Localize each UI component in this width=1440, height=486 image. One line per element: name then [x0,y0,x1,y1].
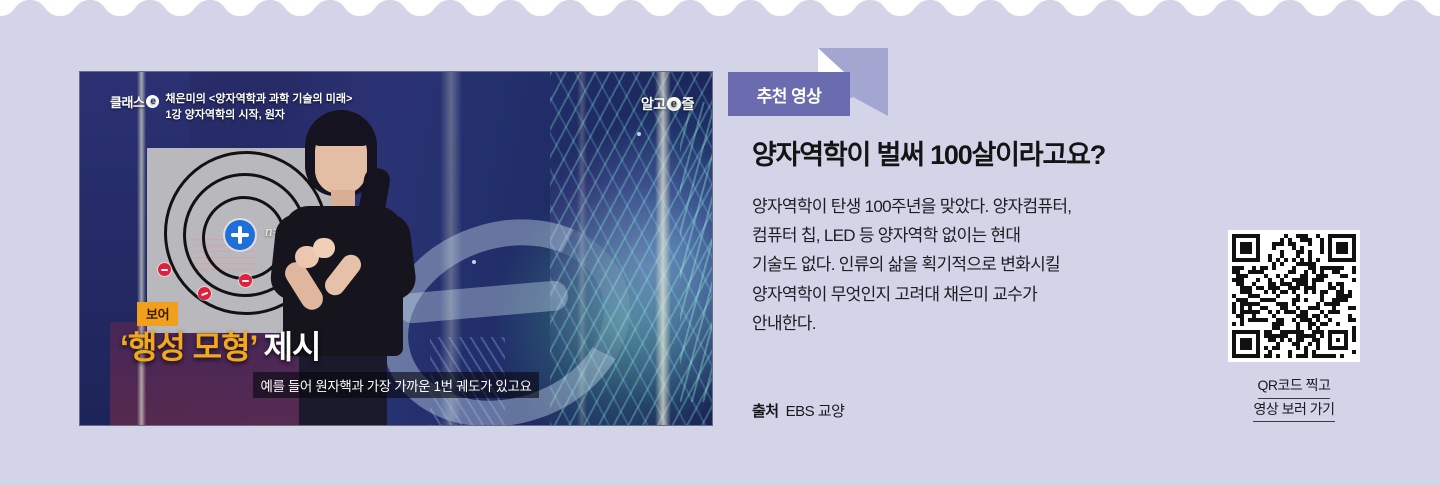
video-header-line-2: 1강 양자역학의 시작, 원자 [165,108,352,124]
article-title: 양자역학이 벌써 100살이라고요? [752,133,1105,172]
watermark-post: 즐 [682,94,694,114]
electron-icon [239,274,252,287]
article-body: 양자역학이 탄생 100주년을 맞았다. 양자컴퓨터, 컴퓨터 칩, LED 등… [752,192,1212,338]
nucleus-plus-icon [225,220,255,250]
studio-dot [637,132,641,136]
ribbon-body: 추천 영상 [728,72,850,116]
class-e-logo-text: 클래스 [110,92,144,111]
watermark-pre: 알고 [641,94,666,114]
article-body-line: 양자역학이 무엇인지 고려대 채은미 교수가 [752,280,1212,309]
article-source-value: EBS 교양 [786,403,845,420]
article-source: 출처EBS 교양 [752,400,844,421]
electron-icon [158,263,171,276]
article-body-line: 안내한다. [752,309,1212,338]
qr-caption-line-2: 영상 보러 가기 [1253,399,1334,423]
qr-caption-line-1: QR코드 찍고 [1258,375,1331,399]
qr-code[interactable] [1228,230,1360,362]
article-body-line: 컴퓨터 칩, LED 등 양자역학 없이는 현대 [752,221,1212,250]
video-header: 클래스 e 채은미의 <양자역학과 과학 기술의 미래> 1강 양자역학의 시작… [110,92,352,124]
scalloped-top-edge [0,0,1440,20]
video-header-text: 채은미의 <양자역학과 과학 기술의 미래> 1강 양자역학의 시작, 원자 [165,92,352,124]
broadcast-watermark: 알고 e 즐 [641,94,694,114]
lower-third-title: ‘행성 모형’ 제시 [120,322,320,368]
presenter-hand-right [313,238,335,258]
video-subtitle: 예를 들어 원자핵과 가장 가까운 1번 궤도가 있고요 [80,372,712,398]
article-body-line: 기술도 없다. 인류의 삶을 획기적으로 변화시킬 [752,250,1212,279]
lower-third-title-highlight: ‘행성 모형’ [120,329,257,365]
presenter-fringe [312,120,370,146]
qr-caption[interactable]: QR코드 찍고 영상 보러 가기 [1212,375,1376,422]
studio-dot [472,260,476,264]
video-subtitle-text: 예를 들어 원자핵과 가장 가까운 1번 궤도가 있고요 [253,372,540,398]
video-header-line-1: 채은미의 <양자역학과 과학 기술의 미래> [165,92,352,108]
lavender-panel: n=1 [0,0,1440,486]
ribbon-label: 추천 영상 [757,82,822,107]
studio-circuit-glow-2 [680,102,712,402]
e-mark-icon: e [667,97,681,111]
article-body-line: 양자역학이 탄생 100주년을 맞았다. 양자컴퓨터, [752,192,1212,221]
article-source-label: 출처 [752,403,779,420]
video-thumbnail[interactable]: n=1 [80,72,712,425]
class-e-logo: 클래스 e [110,92,159,111]
page-root: n=1 [0,0,1440,486]
e-mark-icon: e [146,95,159,108]
lower-third-title-rest: 제시 [257,329,321,365]
